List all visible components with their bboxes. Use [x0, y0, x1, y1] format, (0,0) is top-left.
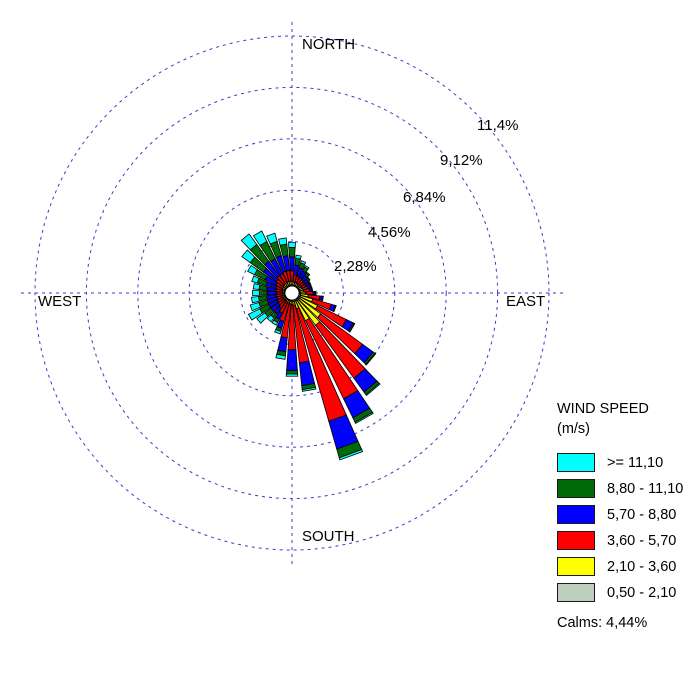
ring-label: 4,56%	[368, 224, 411, 241]
legend-label: 5,70 - 8,80	[607, 506, 676, 524]
petal-segment	[295, 258, 301, 265]
petal-segment	[259, 291, 267, 296]
petal-segment	[278, 337, 288, 352]
legend-swatch	[557, 453, 595, 472]
legend-title-line1: WIND SPEED	[557, 400, 697, 418]
petal-segment	[305, 292, 313, 295]
petal-segment	[286, 370, 297, 374]
legend-label: 2,10 - 3,60	[607, 558, 676, 576]
legend-entry[interactable]: 0,50 - 2,10	[557, 580, 697, 605]
legend-calms-text: Calms: 4,44%	[557, 614, 697, 632]
ring-label: 11,4%	[477, 117, 518, 134]
ring-label: 2,28%	[334, 258, 377, 275]
ring-label: 6,84%	[403, 189, 446, 206]
petal-segment	[253, 290, 260, 296]
legend-entry[interactable]: 5,70 - 8,80	[557, 502, 697, 527]
legend-entry[interactable]: 3,60 - 5,70	[557, 528, 697, 553]
legend-swatch	[557, 505, 595, 524]
cardinal-label-north: NORTH	[302, 36, 355, 53]
legend-swatch	[557, 479, 595, 498]
legend-label: >= 11,10	[607, 454, 663, 472]
legend-entry-list: >= 11,108,80 - 11,105,70 - 8,803,60 - 5,…	[557, 450, 697, 605]
legend-swatch	[557, 557, 595, 576]
legend-swatch	[557, 583, 595, 602]
cardinal-label-south: SOUTH	[302, 528, 355, 545]
ring-label: 9,12%	[440, 152, 483, 169]
legend-entry[interactable]: 8,80 - 11,10	[557, 476, 697, 501]
legend-label: 3,60 - 5,70	[607, 532, 676, 550]
petal-segment	[289, 248, 295, 257]
legend-label: 8,80 - 11,10	[607, 480, 683, 498]
legend-title-line2: (m/s)	[557, 420, 697, 438]
petal-segment	[288, 243, 295, 248]
legend-entry[interactable]: >= 11,10	[557, 450, 697, 475]
petal-segment	[267, 291, 276, 295]
petal-segment	[289, 257, 294, 271]
cardinal-label-west: WEST	[38, 293, 81, 310]
wind-rose-page: WIND SPEED (m/s) >= 11,108,80 - 11,105,7…	[0, 0, 700, 700]
legend-entry[interactable]: 2,10 - 3,60	[557, 554, 697, 579]
rose-center-hub	[285, 286, 299, 300]
legend-swatch	[557, 531, 595, 550]
petal-segment	[287, 350, 298, 371]
legend-panel: WIND SPEED (m/s) >= 11,108,80 - 11,105,7…	[557, 400, 697, 632]
cardinal-label-east: EAST	[506, 293, 545, 310]
legend-label: 0,50 - 2,10	[607, 584, 676, 602]
petal-segment	[251, 297, 259, 303]
